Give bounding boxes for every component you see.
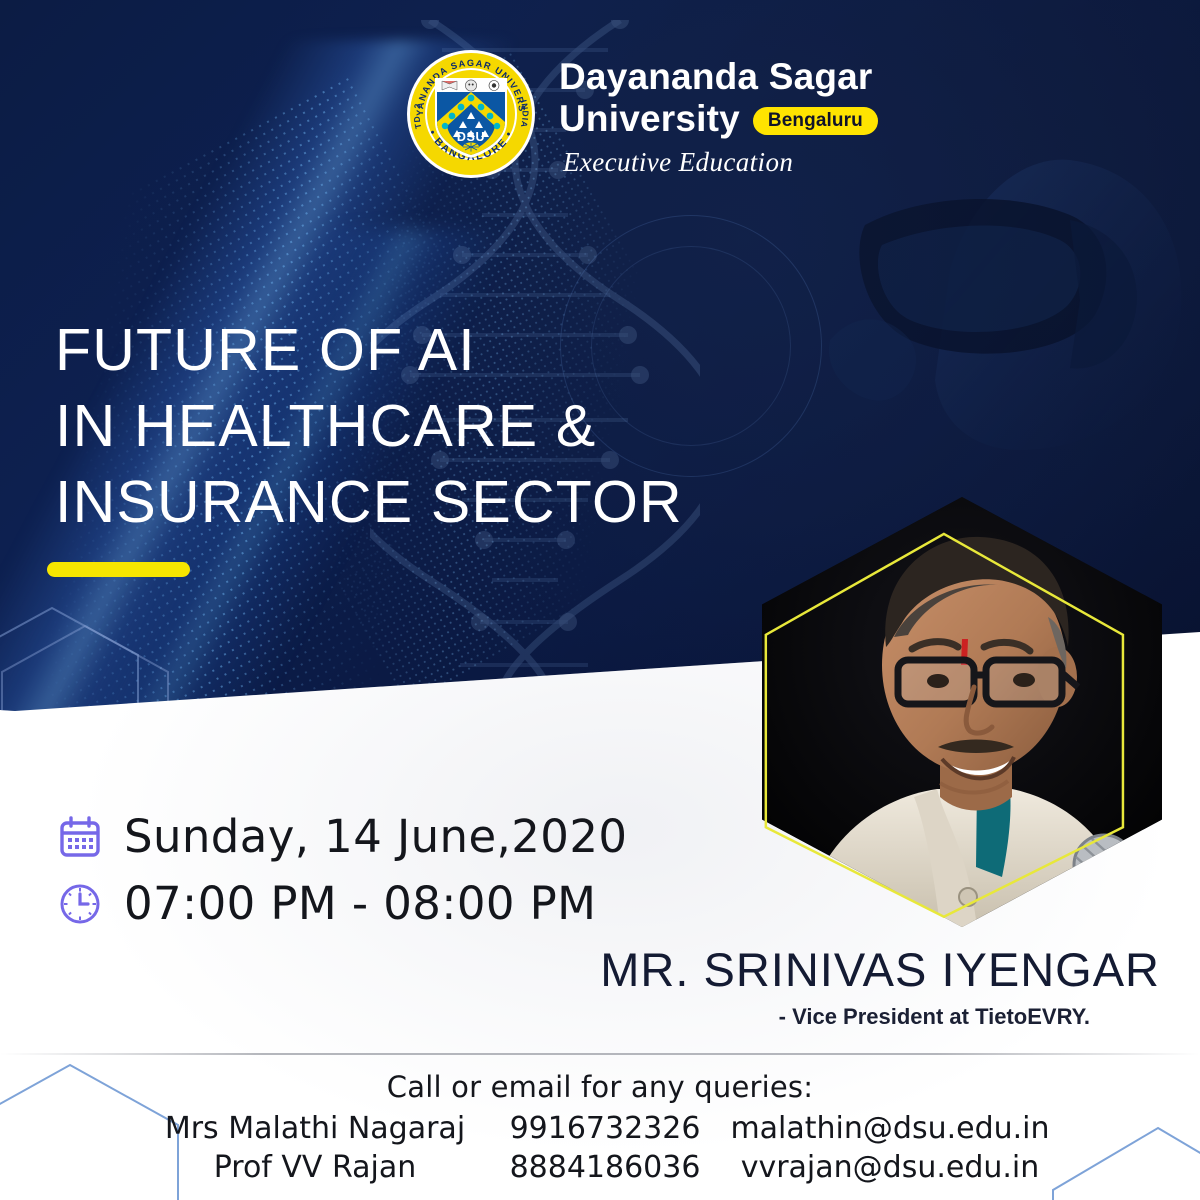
- event-time: 07:00 PM - 08:00 PM: [124, 877, 596, 930]
- speaker-portrait: [762, 497, 1162, 927]
- footer-heading: Call or email for any queries:: [0, 1070, 1200, 1104]
- title-line-3: INSURANCE SECTOR: [55, 464, 755, 540]
- title-line-2: IN HEALTHCARE &: [55, 388, 755, 464]
- brand-line-2: University: [559, 98, 740, 140]
- hexagon-outline-decor-left-2: [0, 620, 180, 800]
- event-poster: DAYANANDA SAGAR UNIVERSITY • BANGALORE •…: [0, 0, 1200, 1200]
- brand-text-block: Dayananda Sagar University Bengaluru Exe…: [559, 48, 878, 178]
- svg-text:DSU: DSU: [457, 130, 485, 144]
- contact-email[interactable]: malathin@dsu.edu.in: [730, 1110, 1050, 1149]
- table-row: Prof VV Rajan 8884186036 vvrajan@dsu.edu…: [150, 1149, 1050, 1188]
- contact-email[interactable]: vvrajan@dsu.edu.in: [730, 1149, 1050, 1188]
- city-badge: Bengaluru: [753, 107, 878, 135]
- speaker-name: MR. SRINIVAS IYENGAR: [600, 942, 1160, 997]
- contact-table: Mrs Malathi Nagaraj 9916732326 malathin@…: [150, 1110, 1050, 1187]
- event-meta: Sunday, 14 June,2020 07:00 PM - 08:00 PM: [58, 810, 627, 944]
- speaker-photo-block: [742, 497, 1162, 927]
- brand-line-2-row: University Bengaluru: [559, 98, 878, 140]
- footer-divider: [0, 1053, 1200, 1055]
- brand-line-1: Dayananda Sagar: [559, 56, 878, 98]
- svg-text:INDIA: INDIA: [519, 99, 531, 129]
- event-time-row: 07:00 PM - 08:00 PM: [58, 877, 627, 930]
- calendar-icon: [58, 815, 102, 859]
- title-line-1: FUTURE OF AI: [55, 312, 755, 388]
- brand-tagline: Executive Education: [559, 147, 878, 178]
- contact-phone[interactable]: 9916732326: [480, 1110, 730, 1149]
- footer-contacts: Call or email for any queries: Mrs Malat…: [0, 1070, 1200, 1187]
- contact-phone[interactable]: 8884186036: [480, 1149, 730, 1188]
- speaker-role: - Vice President at TietoEVRY.: [779, 1004, 1090, 1030]
- brand-header: DAYANANDA SAGAR UNIVERSITY • BANGALORE •…: [405, 48, 878, 180]
- university-crest-logo: DAYANANDA SAGAR UNIVERSITY • BANGALORE •…: [405, 48, 537, 180]
- clock-icon: [58, 882, 102, 926]
- event-date: Sunday, 14 June,2020: [124, 810, 627, 863]
- event-date-row: Sunday, 14 June,2020: [58, 810, 627, 863]
- vr-headset-image: [770, 150, 1200, 510]
- title-accent-bar: [47, 562, 190, 577]
- poster-title: FUTURE OF AI IN HEALTHCARE & INSURANCE S…: [55, 312, 755, 540]
- contact-name: Prof VV Rajan: [150, 1149, 480, 1188]
- contact-name: Mrs Malathi Nagaraj: [150, 1110, 480, 1149]
- table-row: Mrs Malathi Nagaraj 9916732326 malathin@…: [150, 1110, 1050, 1149]
